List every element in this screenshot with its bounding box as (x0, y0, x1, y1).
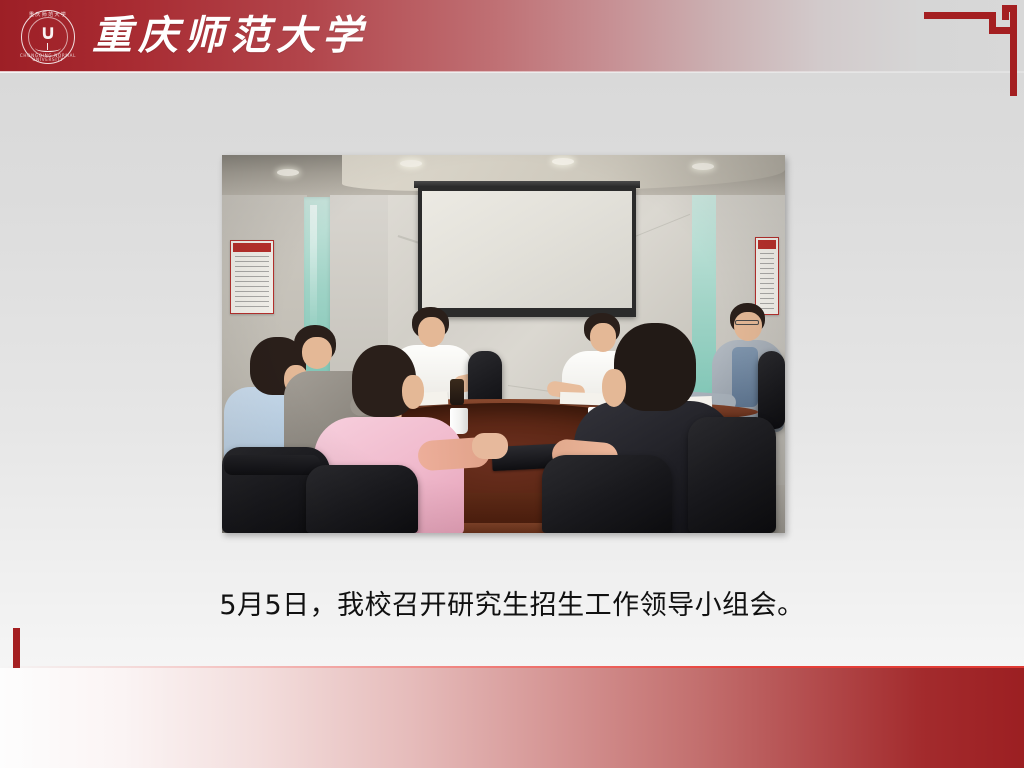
inner-shirt (732, 347, 758, 407)
ceiling-light (692, 163, 714, 170)
seal-rim-text-top: 重庆师范大学 (18, 13, 78, 18)
ornament-bar (1002, 5, 1009, 20)
neck (602, 369, 626, 407)
notice-header-bar (758, 240, 776, 249)
chair-foreground-pink-seat (306, 465, 418, 533)
notice-body-lines (760, 253, 774, 310)
face (418, 317, 445, 347)
neck (402, 375, 424, 409)
chair-right-side (688, 417, 776, 533)
projector-screen-surface (422, 191, 632, 308)
chair-foreground-right (542, 455, 672, 533)
seal-rim-text-bottom: CHONGQING NORMAL UNIVERSITY (18, 54, 78, 62)
face (302, 337, 332, 369)
ornament-bar (1010, 27, 1017, 96)
chair-armrest (224, 455, 320, 475)
face (590, 323, 616, 352)
notice-header-bar (233, 243, 271, 252)
meeting-photo (222, 155, 785, 533)
header-underline (0, 71, 1024, 73)
wall-glass-highlight (310, 205, 317, 325)
projector-screen (418, 187, 636, 317)
university-name-title: 重庆师范大学 (92, 8, 368, 64)
ceiling-light (277, 169, 299, 176)
presentation-slide: 重庆师范大学 ∪ CHONGQING NORMAL UNIVERSITY 重庆师… (0, 0, 1024, 768)
ceiling-light (552, 158, 574, 165)
ornament-bar (924, 12, 996, 19)
ceiling-light (400, 160, 422, 167)
face (734, 312, 762, 341)
wall-notice-right (755, 237, 779, 315)
notice-body-lines (235, 256, 269, 309)
seal-book-shape (35, 44, 61, 52)
meeting-photo-content (222, 155, 785, 533)
corner-ornament-top-right-icon (906, 0, 1024, 96)
footer-band (0, 668, 1024, 768)
slide-caption: 5月5日，我校召开研究生招生工作领导小组会。 (0, 588, 1024, 624)
microphone-base (450, 379, 464, 405)
eyeglasses (735, 320, 759, 325)
university-seal-icon: 重庆师范大学 ∪ CHONGQING NORMAL UNIVERSITY (18, 7, 78, 67)
seal-center-glyph: ∪ (18, 22, 78, 42)
head-hair (614, 323, 696, 411)
hand (472, 433, 508, 459)
wall-notice-left (230, 240, 274, 314)
